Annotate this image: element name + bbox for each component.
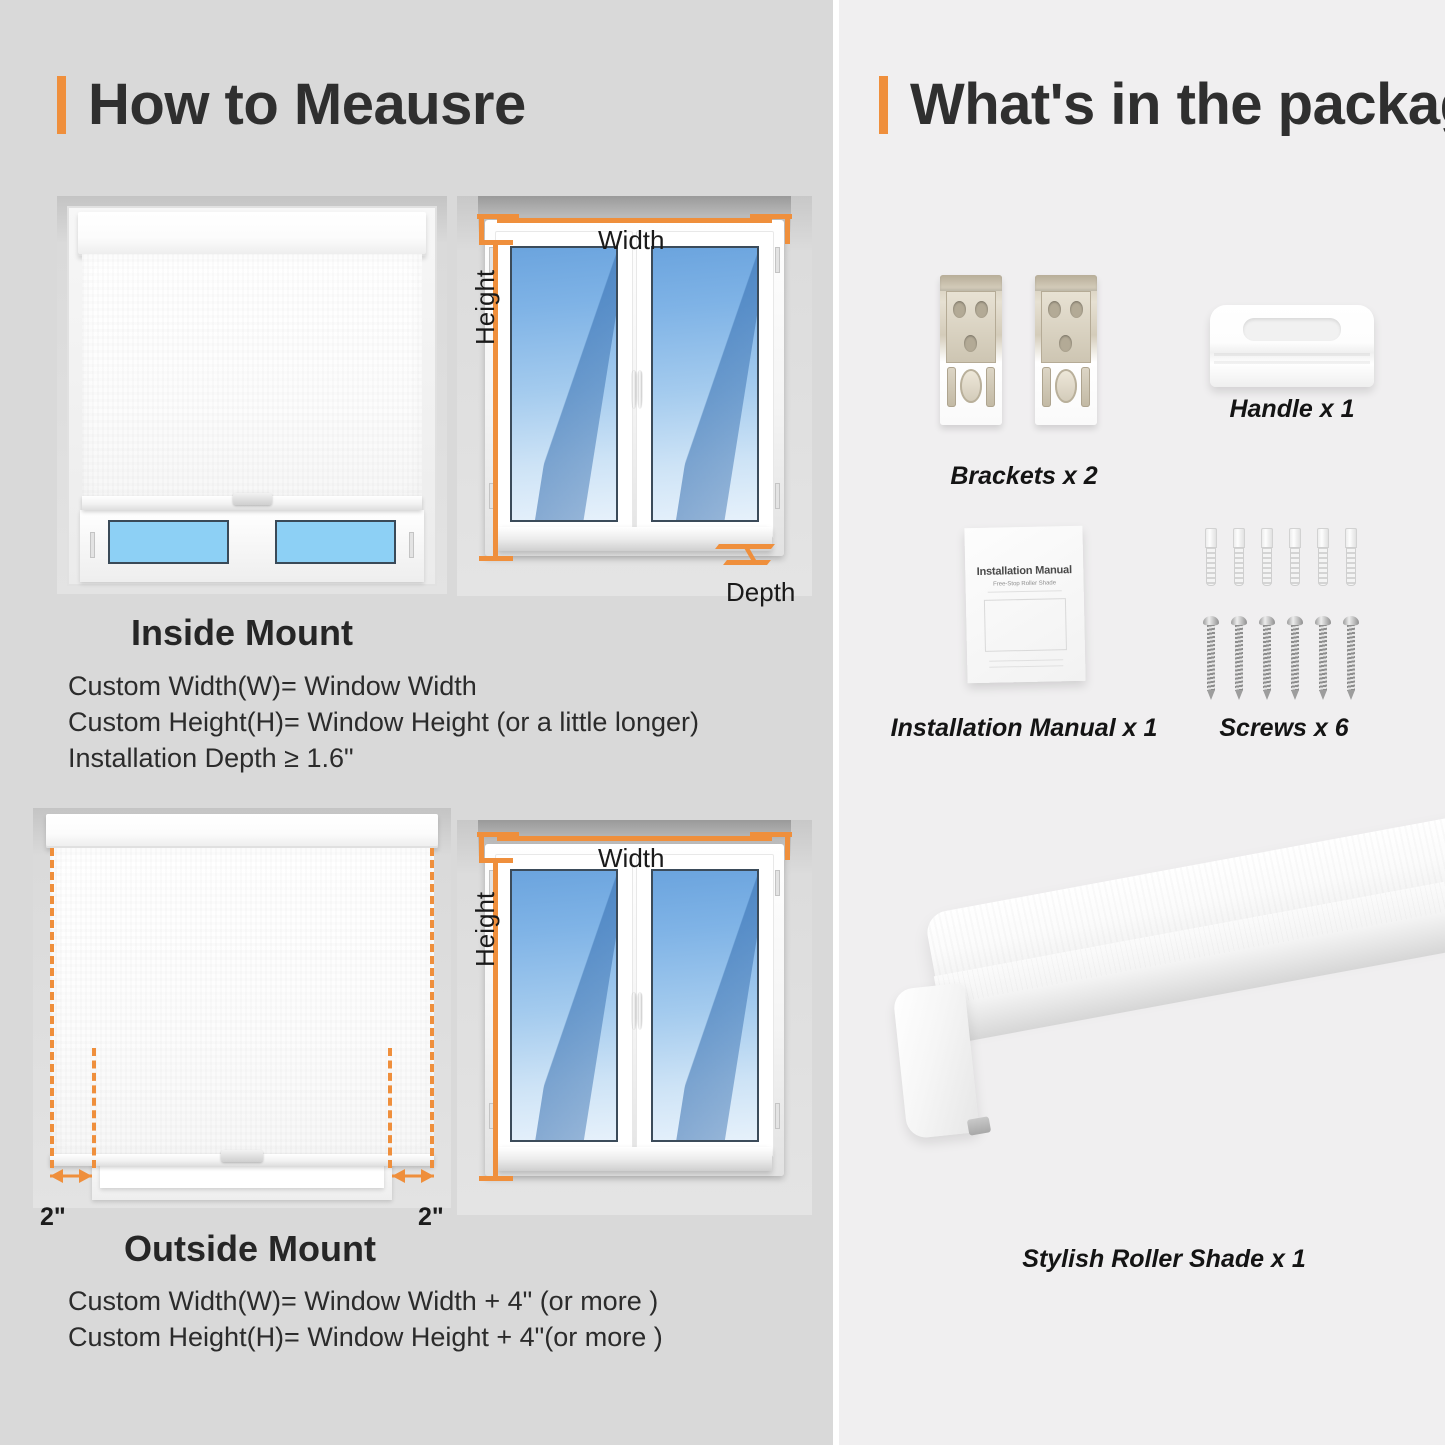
window-glass-left: [108, 520, 229, 564]
overhang-label-right: 2": [418, 1203, 444, 1232]
window-sash-right: [636, 854, 774, 1157]
manual-cover-subtitle: Free-Stop Roller Shade: [966, 580, 1084, 588]
window-glass-right: [651, 869, 758, 1142]
outside-mount-spec-2: Custom Height(H)= Window Height + 4"(or …: [68, 1322, 663, 1353]
screws-label: Screws x 6: [1169, 714, 1399, 743]
inside-mount-spec-1: Custom Width(W)= Window Width: [68, 671, 477, 702]
inside-mount-window-diagram: [457, 196, 812, 596]
overhang-arrow-left: [50, 1168, 92, 1184]
inside-mount-spec-2: Custom Height(H)= Window Height (or a li…: [68, 707, 699, 738]
inside-mount-spec-3: Installation Depth ≥ 1.6": [68, 743, 354, 774]
window-frame: [485, 844, 783, 1176]
shade-fabric: [82, 254, 421, 501]
shade-fabric: [50, 848, 435, 1156]
manual-cover-title: Installation Manual: [965, 564, 1083, 578]
width-marker-line: [497, 218, 772, 223]
overhang-guide-left-outer: [92, 1048, 96, 1168]
outside-mount-spec-1: Custom Width(W)= Window Width + 4" (or m…: [68, 1286, 658, 1317]
height-label-outside: Height: [470, 892, 501, 967]
outside-mount-title: Outside Mount: [124, 1228, 376, 1270]
roller-shade-icon: [894, 880, 1445, 1210]
manual-icon: Installation Manual Free-Stop Roller Sha…: [964, 526, 1085, 683]
window-glass-right: [651, 246, 758, 522]
hinge-bottom-right: [775, 483, 780, 509]
width-marker-line: [497, 836, 772, 841]
window-handles: [632, 371, 642, 408]
outside-mount-window-diagram: [457, 820, 812, 1215]
shade-cassette: [46, 814, 439, 848]
window-sash-right: [636, 231, 774, 538]
how-to-measure-heading: How to Meausre: [57, 76, 526, 134]
package-heading: What's in the package: [879, 76, 1445, 134]
height-marker-top-tick: [479, 240, 513, 245]
window-frame: [485, 220, 783, 556]
window-handles: [632, 993, 642, 1029]
inside-mount-shade-illustration: [57, 196, 447, 594]
height-marker-bottom-tick: [479, 1176, 513, 1181]
hinge-top-right: [775, 870, 780, 896]
shade-pull-handle: [233, 493, 272, 506]
width-marker-right-stem: [785, 832, 790, 860]
manual-label: Installation Manual x 1: [879, 714, 1169, 743]
overhang-arrow-right: [392, 1168, 434, 1184]
width-marker-left-stem: [479, 832, 484, 860]
overhang-guide-right-outer: [388, 1048, 392, 1168]
hinge-top-right: [775, 247, 780, 273]
roller-shade-end-pin: [967, 1116, 991, 1136]
height-label-inside: Height: [470, 270, 501, 345]
package-contents-panel: What's in the package: [839, 0, 1445, 1445]
infographic-page: How to Meausre: [0, 0, 1445, 1445]
hinge-left: [90, 532, 95, 558]
handle-label: Handle x 1: [1167, 395, 1417, 424]
handle-icon: [1210, 305, 1374, 387]
overhang-guide-right-inner: [430, 848, 434, 1168]
hinge-right: [409, 532, 414, 558]
window-sash-left: [495, 231, 633, 538]
inside-mount-title: Inside Mount: [131, 612, 353, 654]
package-title: What's in the package: [910, 76, 1445, 134]
outside-mount-shade-illustration: [33, 808, 451, 1208]
height-marker-bottom-tick: [479, 556, 513, 561]
how-to-measure-title: How to Meausre: [88, 76, 526, 134]
overhang-guide-left-inner: [50, 848, 54, 1168]
window-sash-left: [495, 854, 633, 1157]
brackets-label: Brackets x 2: [899, 462, 1149, 491]
hinge-bottom-right: [775, 1103, 780, 1129]
window-glass-left: [510, 246, 617, 522]
width-marker-right-stem: [785, 214, 790, 244]
roller-shade-label: Stylish Roller Shade x 1: [974, 1245, 1354, 1274]
height-marker-top-tick: [479, 858, 513, 863]
width-label-inside: Width: [598, 225, 664, 256]
shade-pull-handle: [221, 1150, 263, 1162]
window-glass-left: [510, 869, 617, 1142]
accent-bar-left: [57, 76, 66, 134]
window-sill: [497, 1147, 771, 1170]
width-label-outside: Width: [598, 843, 664, 874]
accent-bar-right: [879, 76, 888, 134]
window-glass-right: [275, 520, 396, 564]
depth-marker-bottom: [723, 560, 771, 565]
how-to-measure-panel: How to Meausre: [0, 0, 833, 1445]
overhang-label-left: 2": [40, 1203, 66, 1232]
shade-cassette: [78, 212, 425, 256]
depth-label-inside: Depth: [726, 577, 795, 608]
